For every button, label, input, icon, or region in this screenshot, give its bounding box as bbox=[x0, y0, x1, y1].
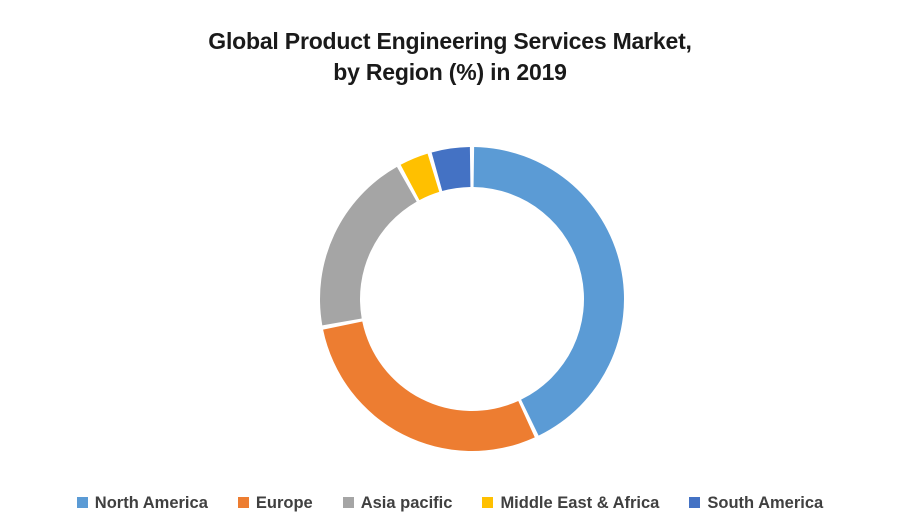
chart-figure: Global Product Engineering Services Mark… bbox=[0, 0, 900, 525]
donut-slice-group bbox=[320, 147, 624, 451]
chart-legend: North AmericaEuropeAsia pacificMiddle Ea… bbox=[0, 495, 900, 512]
legend-item-label: Middle East & Africa bbox=[500, 495, 659, 512]
legend-item-north-america[interactable]: North America bbox=[77, 495, 208, 512]
legend-item-label: South America bbox=[707, 495, 823, 512]
legend-swatch-icon bbox=[482, 497, 493, 508]
donut-chart-svg bbox=[0, 0, 900, 470]
donut-slice-north-america[interactable] bbox=[474, 147, 624, 436]
donut-slice-europe[interactable] bbox=[323, 322, 535, 451]
legend-item-south-america[interactable]: South America bbox=[689, 495, 823, 512]
legend-item-label: Europe bbox=[256, 495, 313, 512]
donut-slice-south-america[interactable] bbox=[432, 147, 471, 191]
legend-swatch-icon bbox=[343, 497, 354, 508]
legend-swatch-icon bbox=[77, 497, 88, 508]
donut-chart-plot-area bbox=[0, 0, 900, 470]
legend-item-label: North America bbox=[95, 495, 208, 512]
legend-item-label: Asia pacific bbox=[361, 495, 453, 512]
donut-slice-asia-pacific[interactable] bbox=[320, 167, 417, 326]
legend-item-asia-pacific[interactable]: Asia pacific bbox=[343, 495, 453, 512]
legend-swatch-icon bbox=[689, 497, 700, 508]
legend-item-middle-east-africa[interactable]: Middle East & Africa bbox=[482, 495, 659, 512]
legend-swatch-icon bbox=[238, 497, 249, 508]
legend-item-europe[interactable]: Europe bbox=[238, 495, 313, 512]
